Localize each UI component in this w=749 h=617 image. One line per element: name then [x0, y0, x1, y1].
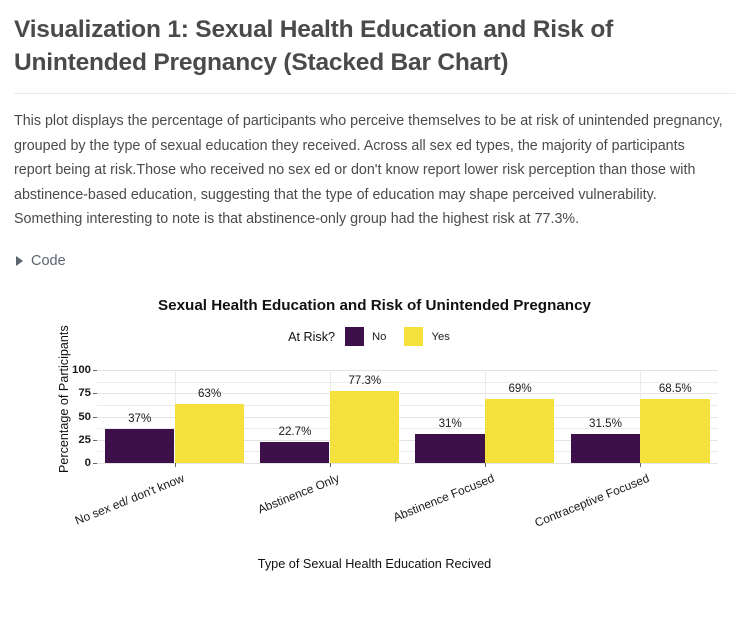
plot-panel: 025507510037%63%No sex ed/ don't know22.… — [97, 370, 718, 463]
gridline-y-100 — [97, 370, 718, 371]
x-category-label-1: Abstinence Only — [256, 471, 342, 516]
y-tick-mark-0 — [93, 463, 97, 464]
legend-title: At Risk? — [288, 330, 335, 344]
x-category-label-2: Abstinence Focused — [391, 471, 496, 524]
bar-value-label-2-no: 31% — [439, 417, 462, 430]
bar-value-label-2-yes: 69% — [508, 382, 531, 395]
gridline-y-0 — [97, 463, 718, 464]
gridline-y-87.5 — [97, 382, 718, 383]
y-tick-mark-100 — [93, 370, 97, 371]
bar-value-label-3-no: 31.5% — [589, 417, 622, 430]
x-tick-mark-3 — [640, 463, 641, 467]
y-tick-mark-25 — [93, 440, 97, 441]
bar-0-yes[interactable] — [175, 404, 244, 463]
page-title: Visualization 1: Sexual Health Education… — [14, 14, 735, 79]
bar-1-no[interactable] — [260, 442, 329, 463]
code-disclosure-label: Code — [31, 253, 66, 269]
x-category-label-3: Contraceptive Focused — [533, 471, 652, 530]
y-tick-mark-75 — [93, 393, 97, 394]
gridline-y-75 — [97, 393, 718, 394]
triangle-right-icon — [16, 256, 23, 266]
x-axis-title: Type of Sexual Health Education Recived — [0, 557, 749, 571]
x-tick-mark-1 — [330, 463, 331, 467]
chart-figure: Sexual Health Education and Risk of Unin… — [0, 291, 749, 571]
bar-3-yes[interactable] — [640, 399, 709, 463]
bar-value-label-0-yes: 63% — [198, 387, 221, 400]
bar-value-label-3-yes: 68.5% — [659, 382, 692, 395]
y-tick-label-100: 100 — [72, 364, 91, 376]
y-tick-label-25: 25 — [78, 434, 91, 446]
y-tick-mark-50 — [93, 417, 97, 418]
legend-label-no: No — [372, 331, 386, 343]
legend-swatch-no — [345, 327, 364, 346]
bar-0-no[interactable] — [105, 429, 174, 463]
x-tick-mark-0 — [175, 463, 176, 467]
bar-2-yes[interactable] — [485, 399, 554, 463]
y-tick-label-0: 0 — [85, 457, 91, 469]
y-axis-title: Percentage of Participants — [57, 325, 71, 473]
bar-1-yes[interactable] — [330, 391, 399, 463]
chart-legend: At Risk? No Yes — [0, 327, 749, 346]
y-tick-label-75: 75 — [78, 387, 91, 399]
bar-2-no[interactable] — [415, 434, 484, 463]
chart-title: Sexual Health Education and Risk of Unin… — [0, 297, 749, 314]
y-tick-label-50: 50 — [78, 411, 91, 423]
x-tick-mark-2 — [485, 463, 486, 467]
description-paragraph: This plot displays the percentage of par… — [14, 109, 726, 232]
document-body: Visualization 1: Sexual Health Education… — [0, 14, 749, 269]
legend-label-yes: Yes — [431, 331, 449, 343]
legend-swatch-yes — [404, 327, 423, 346]
code-disclosure-toggle[interactable]: Code — [16, 253, 106, 269]
bar-3-no[interactable] — [571, 434, 640, 463]
bar-value-label-1-no: 22.7% — [279, 425, 312, 438]
bar-value-label-0-no: 37% — [128, 412, 151, 425]
title-divider — [14, 93, 735, 94]
x-category-label-0: No sex ed/ don't know — [72, 471, 185, 528]
bar-value-label-1-yes: 77.3% — [348, 374, 381, 387]
